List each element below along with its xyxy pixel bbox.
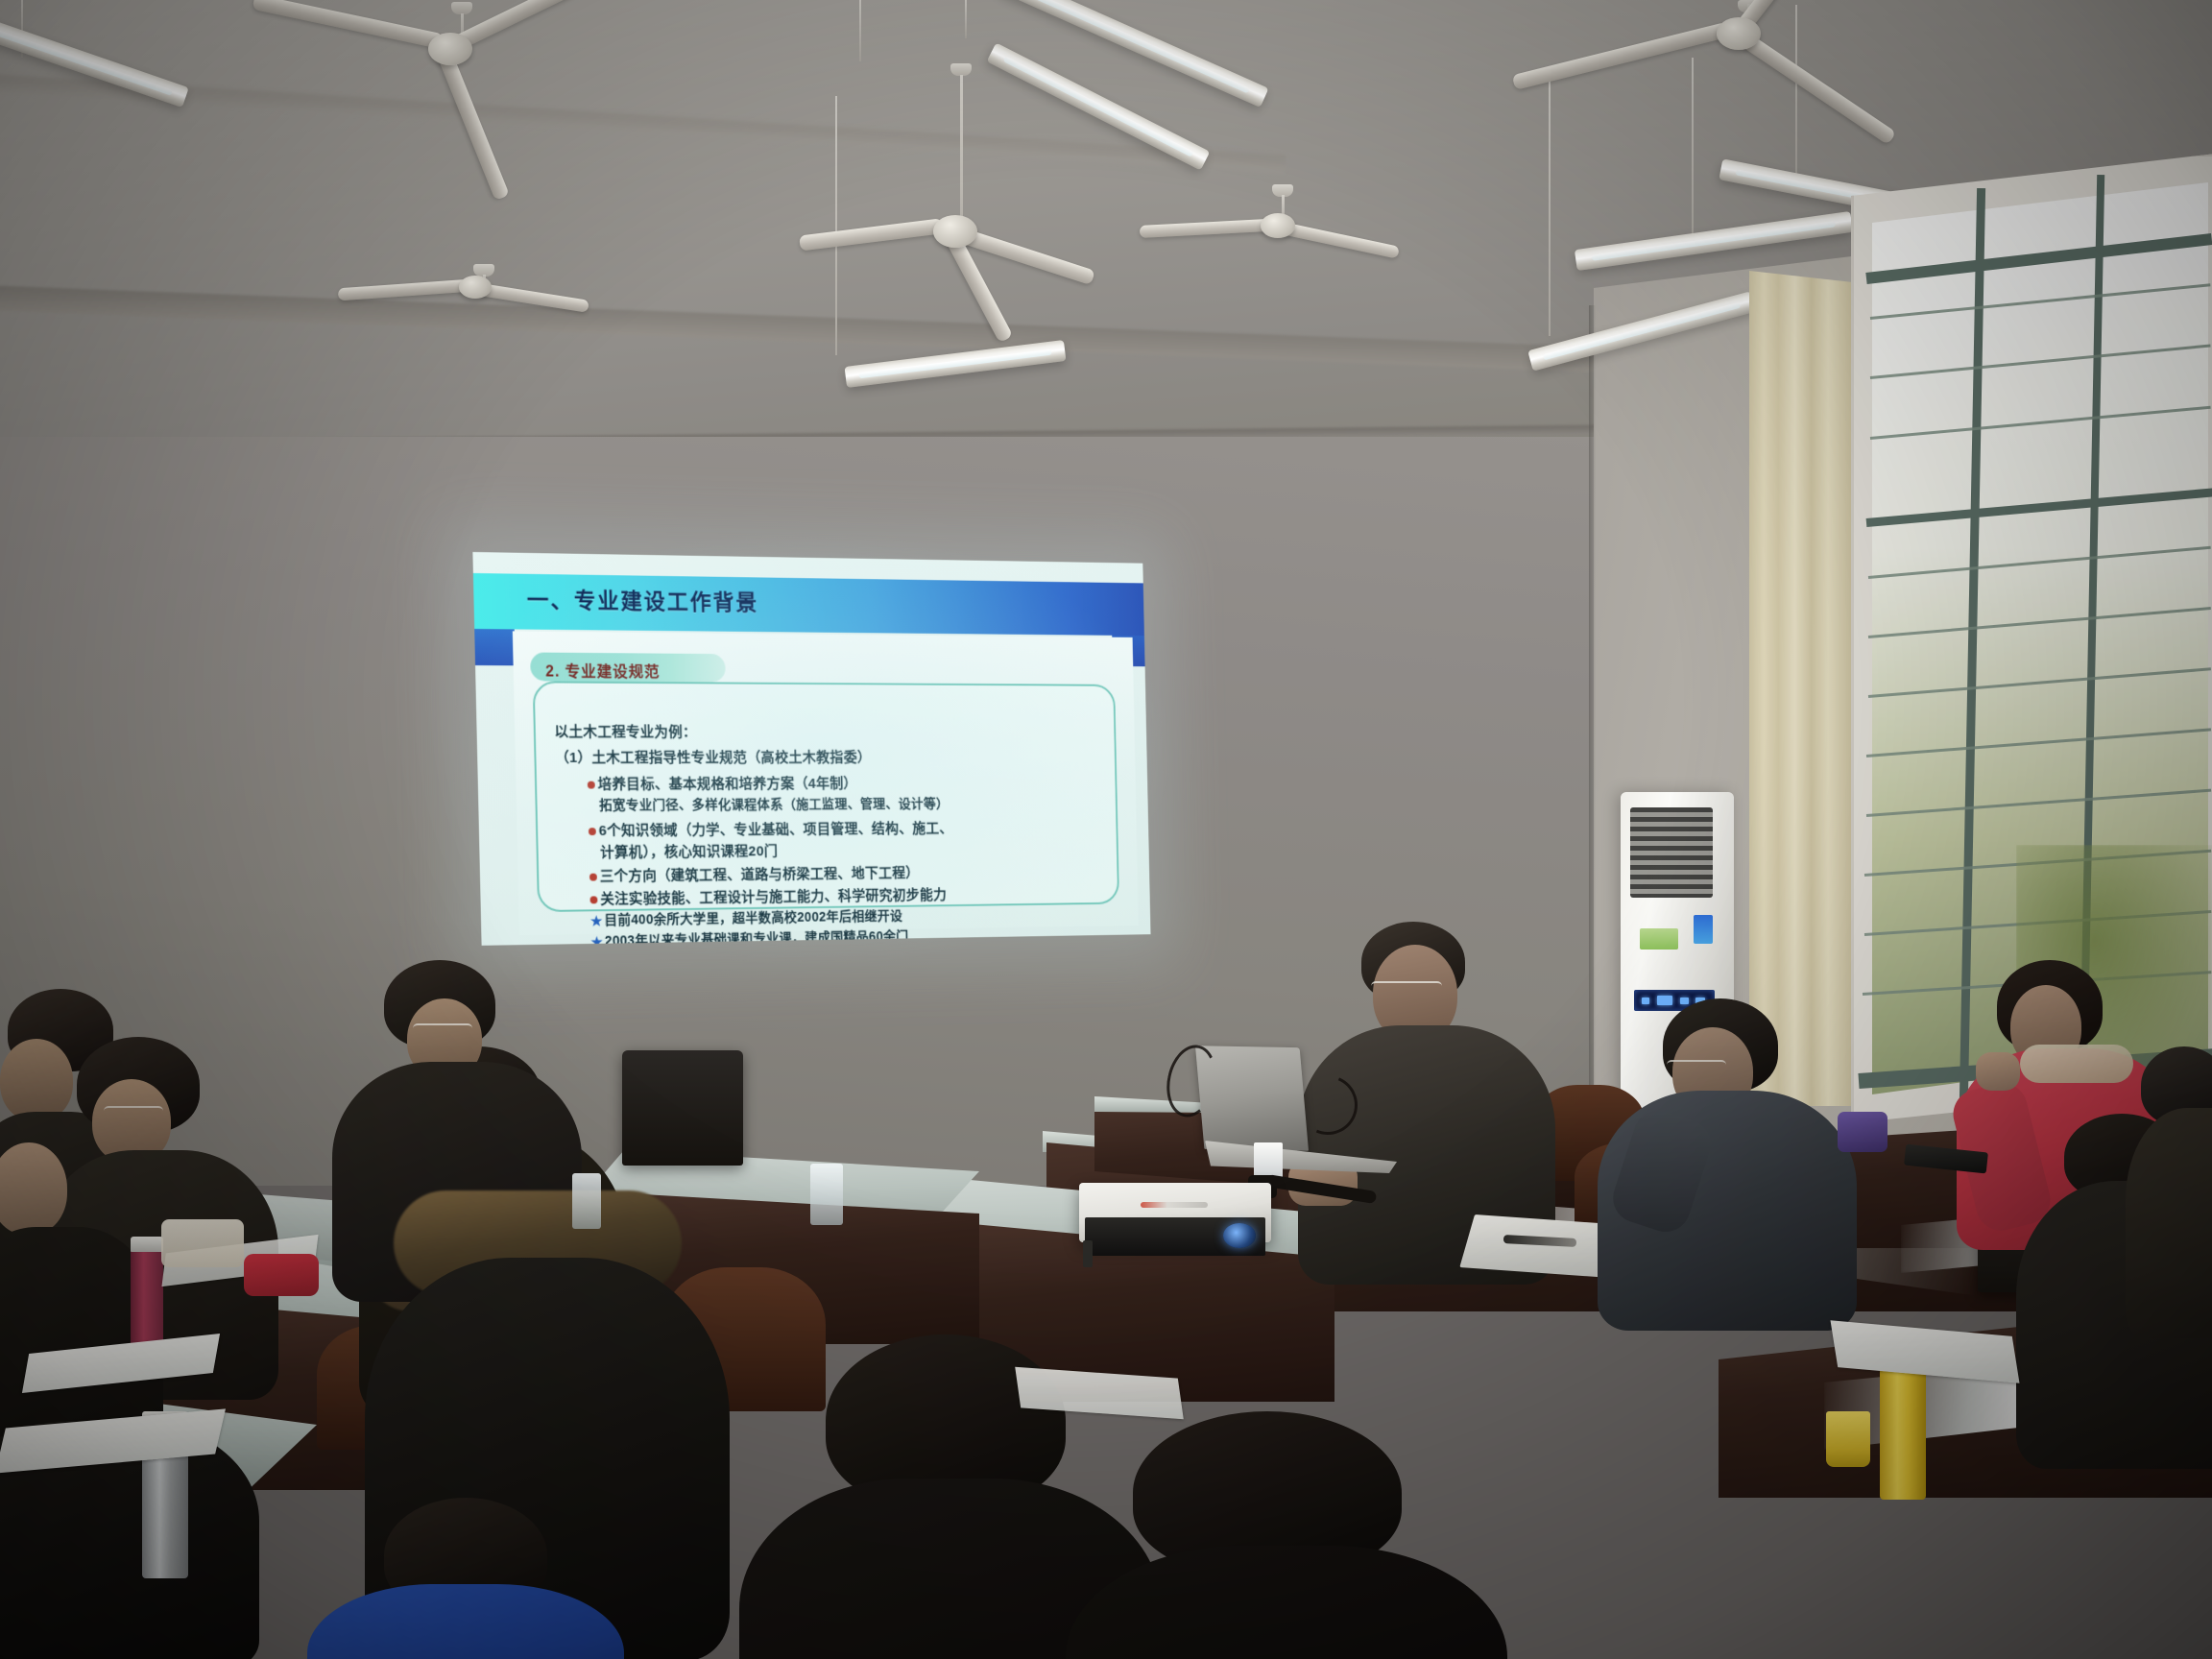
light-wire (1692, 58, 1694, 240)
slide-line-text: （1）土木工程指导性专业规范（高校土木教指委） (555, 750, 871, 766)
slide-line-text: 6个知识领域（力学、专业基础、项目管理、结构、施工、 (599, 821, 953, 839)
ac-led-indicator (1657, 996, 1672, 1005)
ac-logo-badge (1640, 928, 1678, 950)
ac-energy-label (1694, 915, 1713, 944)
slide-line-text: 三个方向（建筑工程、道路与桥梁工程、地下工程） (600, 865, 920, 884)
bullet-dot-icon (589, 874, 597, 881)
bullet-dot-icon (590, 896, 598, 903)
slide-title: 一、专业建设工作背景 (526, 582, 758, 617)
bullet-dot-icon (588, 781, 595, 789)
cup-yellow[interactable] (1826, 1411, 1870, 1467)
conference-room-photo: 一、专业建设工作背景 2. 专业建设规范 以土木工程专业为例： （1）土木工程指… (0, 0, 2212, 1659)
thermos-pink-cap (131, 1237, 163, 1252)
slide-line-1: （1）土木工程指导性专业规范（高校土木教指委） (555, 747, 872, 767)
bullet-star-icon: ★ (590, 913, 603, 929)
presentation-slide: 一、专业建设工作背景 2. 专业建设规范 以土木工程专业为例： （1）土木工程指… (472, 552, 1150, 946)
slide-line-text: 目前400余所大学里，超半数高校2002年后相继开设 (604, 908, 902, 927)
attendee-coat (2126, 1108, 2212, 1338)
slide-line-0: 以土木工程专业为例： (554, 721, 697, 741)
light-wire (859, 0, 861, 61)
ac-led-indicator (1642, 998, 1649, 1004)
attendee-fur-collar (2020, 1045, 2133, 1083)
slide-line-text: 以土木工程专业为例： (554, 724, 696, 740)
slide-line-6: 三个方向（建筑工程、道路与桥梁工程、地下工程） (589, 862, 920, 885)
light-wire (1549, 77, 1551, 336)
slide-line-text: 计算机），核心知识课程20门 (600, 843, 778, 860)
thermos-yellow[interactable] (1880, 1356, 1926, 1500)
fan-hub (428, 33, 472, 65)
fan-hub (1717, 17, 1761, 50)
fan-hub (1261, 213, 1295, 238)
tissue-pack[interactable] (161, 1219, 244, 1267)
bullet-dot-icon (589, 828, 596, 835)
slide-line-5: 计算机），核心知识课程20门 (600, 840, 779, 861)
slide-title-bar-accent-left (474, 629, 515, 665)
light-wire (965, 0, 967, 38)
ac-grille (1630, 807, 1713, 898)
attendee-hand (1976, 1052, 2020, 1091)
purple-item-right[interactable] (1838, 1112, 1887, 1152)
slide-line-text: 培养目标、基本规格和培养方案（4年制） (597, 776, 856, 792)
light-wire (1795, 5, 1797, 187)
attendee-glasses (413, 1023, 472, 1037)
slide-line-3: 拓宽专业门径、多样化课程体系（施工监理、管理、设计等） (599, 794, 950, 814)
projector-buttons[interactable] (1141, 1202, 1208, 1208)
water-glass-left[interactable] (572, 1173, 601, 1229)
slide-line-text: 拓宽专业门径、多样化课程体系（施工监理、管理、设计等） (599, 796, 949, 812)
fan-hub (459, 276, 492, 299)
slide-section-label: 2. 专业建设规范 (545, 659, 661, 683)
attendee-head (0, 1039, 73, 1121)
ac-led-indicator (1680, 998, 1689, 1004)
slide-line-2: 培养目标、基本规格和培养方案（4年制） (588, 773, 857, 793)
window-curtain (1749, 271, 1853, 1106)
projector-lens (1223, 1223, 1256, 1248)
fan-rod (960, 75, 963, 228)
water-glass-center[interactable] (810, 1164, 843, 1225)
attendee-glasses (1667, 1060, 1726, 1073)
presenter-glasses (1371, 981, 1442, 997)
fan-hub (933, 215, 977, 248)
projection-screen: 一、专业建设工作背景 2. 专业建设规范 以土木工程专业为例： （1）土木工程指… (472, 552, 1150, 946)
attendee-glasses (104, 1106, 163, 1119)
projector-foot (1083, 1240, 1093, 1267)
chair-empty-center[interactable] (622, 1050, 743, 1166)
light-wire (835, 96, 837, 355)
red-pouch[interactable] (244, 1254, 319, 1296)
projector[interactable] (1079, 1183, 1271, 1242)
slide-line-4: 6个知识领域（力学、专业基础、项目管理、结构、施工、 (589, 818, 953, 840)
